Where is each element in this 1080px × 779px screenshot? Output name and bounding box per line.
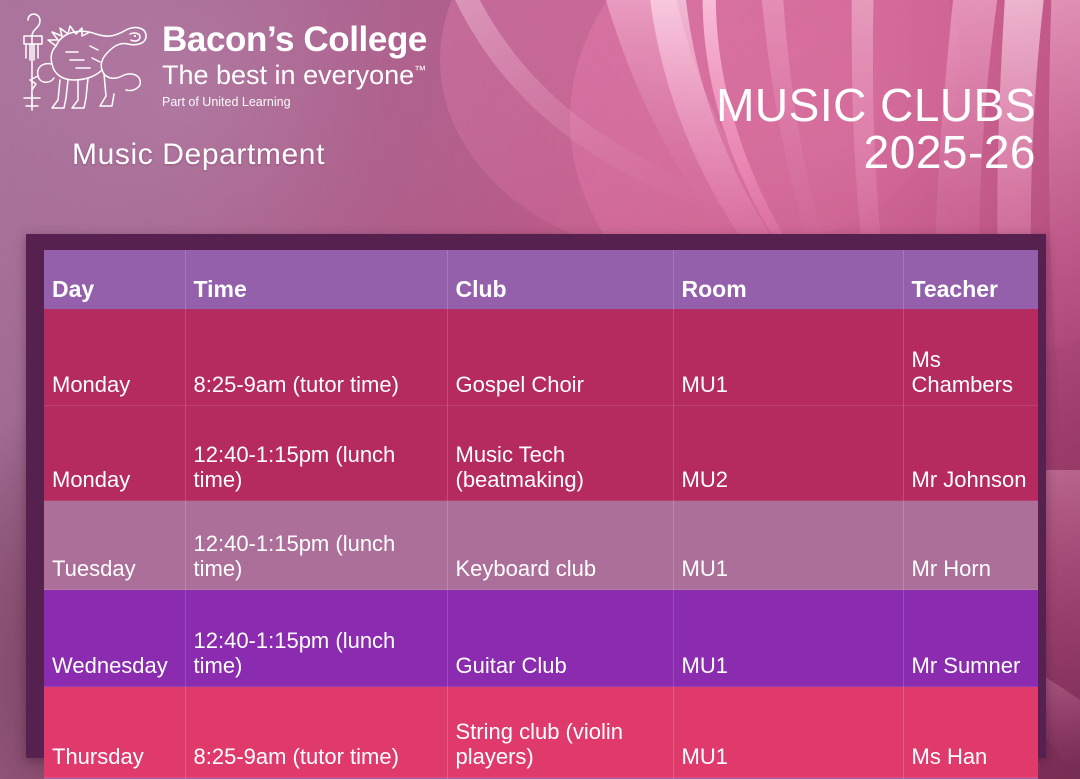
- cell-teacher: Ms Chambers: [903, 309, 1038, 406]
- cell-teacher: Mr Johnson: [903, 406, 1038, 501]
- cell-club: Gospel Choir: [447, 309, 673, 406]
- cell-room: MU2: [673, 406, 903, 501]
- cell-day: Monday: [44, 309, 185, 406]
- cell-time: 12:40-1:15pm (lunch time): [185, 406, 447, 501]
- table-row: Wednesday 12:40-1:15pm (lunch time) Guit…: [44, 590, 1038, 687]
- table-row: Thursday 8:25-9am (tutor time) String cl…: [44, 687, 1038, 778]
- cell-day: Thursday: [44, 687, 185, 778]
- college-branding: Bacon’s College The best in everyone™ Pa…: [0, 6, 427, 124]
- tagline-text: The best in everyone: [162, 60, 414, 90]
- cell-time: 8:25-9am (tutor time): [185, 309, 447, 406]
- table-header-row: Day Time Club Room Teacher: [44, 250, 1038, 309]
- cell-time: 8:25-9am (tutor time): [185, 687, 447, 778]
- cell-day: Wednesday: [44, 590, 185, 687]
- cell-room: MU1: [673, 687, 903, 778]
- cell-time: 12:40-1:15pm (lunch time): [185, 590, 447, 687]
- column-header-teacher: Teacher: [903, 250, 1038, 309]
- column-header-day: Day: [44, 250, 185, 309]
- trademark-symbol: ™: [414, 63, 426, 77]
- lion-crest-icon: [4, 6, 154, 124]
- cell-teacher: Ms Han: [903, 687, 1038, 778]
- slide-title: MUSIC CLUBS 2025-26: [716, 82, 1036, 176]
- column-header-time: Time: [185, 250, 447, 309]
- cell-teacher: Mr Horn: [903, 501, 1038, 590]
- table-row: Monday 12:40-1:15pm (lunch time) Music T…: [44, 406, 1038, 501]
- slide-title-line1: MUSIC CLUBS: [716, 82, 1036, 129]
- college-subline: Part of United Learning: [162, 95, 427, 109]
- column-header-room: Room: [673, 250, 903, 309]
- cell-day: Tuesday: [44, 501, 185, 590]
- department-title: Music Department: [72, 138, 325, 172]
- table-row: Tuesday 12:40-1:15pm (lunch time) Keyboa…: [44, 501, 1038, 590]
- cell-teacher: Mr Sumner: [903, 590, 1038, 687]
- cell-day: Monday: [44, 406, 185, 501]
- cell-club: Music Tech (beatmaking): [447, 406, 673, 501]
- table-row: Monday 8:25-9am (tutor time) Gospel Choi…: [44, 309, 1038, 406]
- cell-club: String club (violin players): [447, 687, 673, 778]
- cell-club: Guitar Club: [447, 590, 673, 687]
- cell-room: MU1: [673, 590, 903, 687]
- cell-club: Keyboard club: [447, 501, 673, 590]
- slide-title-line2: 2025-26: [716, 129, 1036, 176]
- college-tagline: The best in everyone™: [162, 60, 427, 91]
- college-name: Bacon’s College: [162, 22, 427, 57]
- cell-time: 12:40-1:15pm (lunch time): [185, 501, 447, 590]
- music-clubs-table: Day Time Club Room Teacher Monday 8:25-9…: [44, 250, 1038, 779]
- cell-room: MU1: [673, 501, 903, 590]
- slide-canvas: Bacon’s College The best in everyone™ Pa…: [0, 0, 1080, 779]
- column-header-club: Club: [447, 250, 673, 309]
- cell-room: MU1: [673, 309, 903, 406]
